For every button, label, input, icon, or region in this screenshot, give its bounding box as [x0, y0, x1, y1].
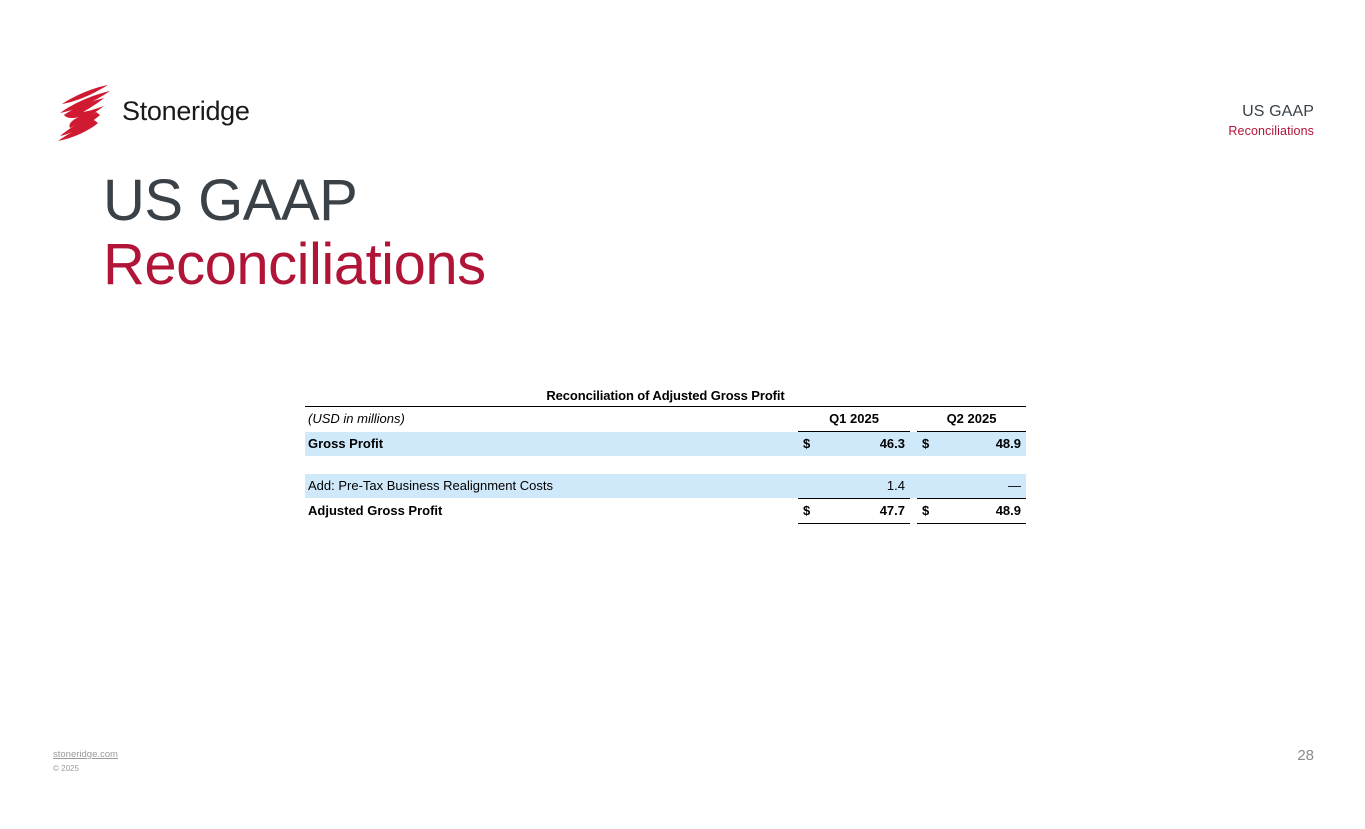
table-header-row: (USD in millions) Q1 2025 Q2 2025	[305, 407, 1026, 431]
table-row: Add: Pre-Tax Business Realignment Costs …	[305, 474, 1026, 498]
row-value-q2: —	[943, 474, 1026, 498]
eyebrow-primary: US GAAP	[1228, 101, 1314, 123]
page-title: US GAAP Reconciliations	[103, 172, 486, 295]
slide: Stoneridge US GAAP Reconciliations US GA…	[0, 0, 1365, 829]
column-header-q1: Q1 2025	[798, 407, 910, 431]
row-value-q1: 1.4	[824, 474, 910, 498]
page-title-main: US GAAP	[103, 172, 486, 230]
row-value-q2: 48.9	[943, 499, 1026, 523]
row-currency-q1	[798, 474, 824, 498]
row-value-q2: 48.9	[943, 432, 1026, 456]
stoneridge-s-swoosh-icon	[52, 84, 118, 142]
table-title: Reconciliation of Adjusted Gross Profit	[305, 388, 1026, 406]
row-label-gross-profit: Gross Profit	[305, 432, 798, 456]
table-row: Gross Profit $ 46.3 $ 48.9	[305, 432, 1026, 456]
row-currency-q1: $	[798, 432, 824, 456]
logo-wordmark: Stoneridge	[122, 96, 250, 127]
reconciliation-table-container: Reconciliation of Adjusted Gross Profit …	[305, 388, 1026, 524]
table-spacer-row	[305, 456, 1026, 474]
row-label-realignment-costs: Add: Pre-Tax Business Realignment Costs	[305, 474, 798, 498]
reconciliation-table: (USD in millions) Q1 2025 Q2 2025 Gross …	[305, 406, 1026, 524]
section-eyebrow: US GAAP Reconciliations	[1228, 101, 1314, 139]
row-currency-q2: $	[917, 432, 943, 456]
units-label: (USD in millions)	[305, 407, 798, 431]
row-currency-q2	[917, 474, 943, 498]
row-value-q1: 47.7	[824, 499, 910, 523]
website-link[interactable]: stoneridge.com	[53, 748, 118, 762]
table-bottom-rule	[305, 523, 1026, 524]
copyright-text: © 2025	[53, 763, 118, 775]
row-label-adjusted-gross-profit: Adjusted Gross Profit	[305, 499, 798, 523]
table-row: Adjusted Gross Profit $ 47.7 $ 48.9	[305, 499, 1026, 523]
eyebrow-secondary: Reconciliations	[1228, 123, 1314, 140]
column-header-q2: Q2 2025	[917, 407, 1026, 431]
page-number: 28	[1297, 747, 1314, 764]
row-currency-q2: $	[917, 499, 943, 523]
row-value-q1: 46.3	[824, 432, 910, 456]
row-currency-q1: $	[798, 499, 824, 523]
footer: stoneridge.com © 2025	[53, 748, 118, 775]
page-title-sub: Reconciliations	[103, 235, 486, 295]
company-logo: Stoneridge	[52, 84, 282, 144]
